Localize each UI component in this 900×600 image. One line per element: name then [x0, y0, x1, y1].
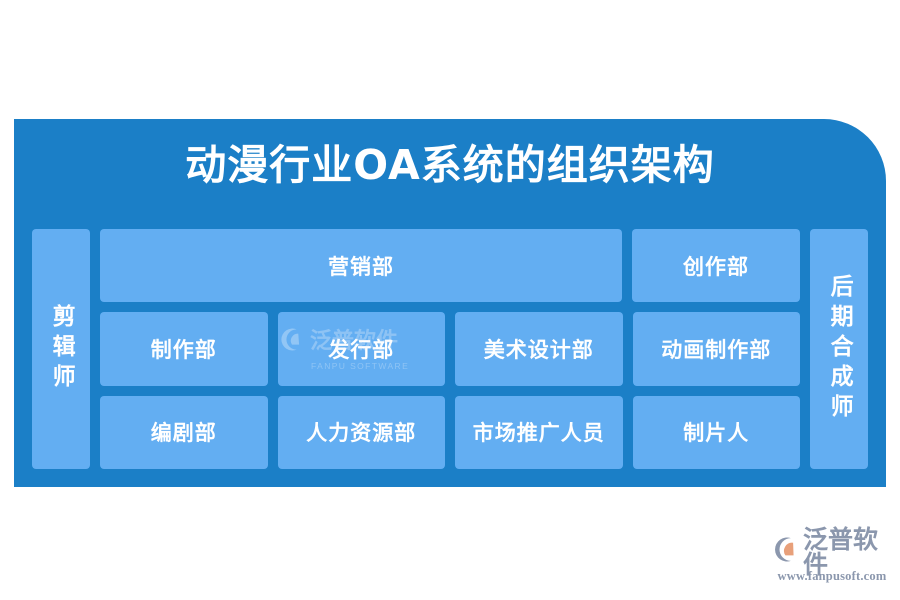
org-node-market-promotion-label: 市场推广人员 [473, 417, 605, 447]
org-node-art-design[interactable]: 美术设计部 [455, 312, 623, 385]
org-row-2: 制作部 发行部 美术设计部 动画制作部 [100, 312, 800, 385]
org-node-creative[interactable]: 创作部 [632, 229, 800, 302]
brand-logo: 泛普软件 www.fanpusoft.com [770, 538, 894, 586]
org-node-animation-production-label: 动画制作部 [661, 334, 771, 364]
org-chart-body: 剪辑师 营销部 创作部 制作部 发行部 美术设计部 [32, 229, 868, 469]
org-node-animation-production[interactable]: 动画制作部 [633, 312, 801, 385]
org-node-left-editor-label: 剪辑师 [49, 304, 73, 394]
org-node-producer[interactable]: 制片人 [633, 396, 801, 469]
org-node-marketing-label: 营销部 [328, 251, 394, 281]
org-node-human-resources[interactable]: 人力资源部 [278, 396, 446, 469]
org-node-creative-label: 创作部 [683, 251, 749, 281]
org-node-producer-label: 制片人 [683, 417, 749, 447]
org-node-grid: 营销部 创作部 制作部 发行部 美术设计部 动画制作部 [100, 229, 800, 469]
org-row-1: 营销部 创作部 [100, 229, 800, 302]
org-row-3: 编剧部 人力资源部 市场推广人员 制片人 [100, 396, 800, 469]
org-node-human-resources-label: 人力资源部 [306, 417, 416, 447]
org-node-production-label: 制作部 [151, 334, 217, 364]
org-node-right-compositor[interactable]: 后期合成师 [810, 229, 868, 469]
page-title: 动漫行业OA系统的组织架构 [14, 145, 886, 186]
brand-url-text: www.fanpusoft.com [770, 569, 894, 584]
org-node-market-promotion[interactable]: 市场推广人员 [455, 396, 623, 469]
brand-logo-icon [770, 535, 799, 569]
org-node-screenwriting-label: 编剧部 [151, 417, 217, 447]
org-node-distribution-label: 发行部 [328, 334, 394, 364]
org-chart-panel: 动漫行业OA系统的组织架构 剪辑师 营销部 创作部 制作部 发行部 [14, 119, 886, 487]
org-node-art-design-label: 美术设计部 [484, 334, 594, 364]
org-node-left-editor[interactable]: 剪辑师 [32, 229, 90, 469]
org-node-marketing[interactable]: 营销部 [100, 229, 622, 302]
org-node-right-compositor-label: 后期合成师 [827, 274, 851, 424]
org-node-production[interactable]: 制作部 [100, 312, 268, 385]
org-node-distribution[interactable]: 发行部 [278, 312, 446, 385]
org-node-screenwriting[interactable]: 编剧部 [100, 396, 268, 469]
